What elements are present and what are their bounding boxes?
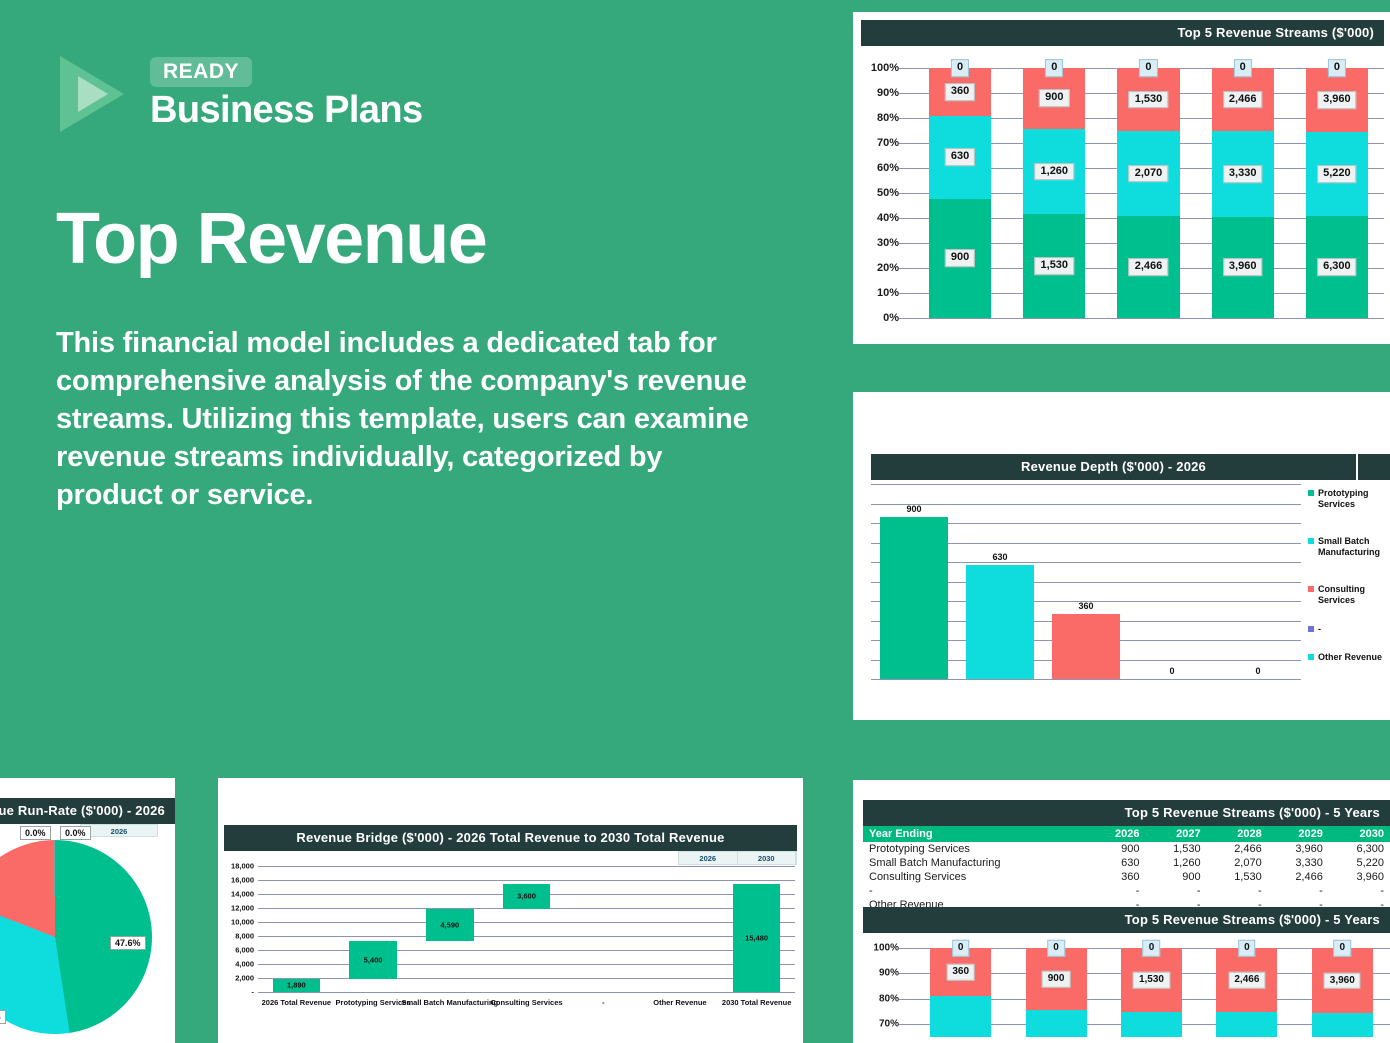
x-axis-category-label: - — [602, 998, 605, 1007]
y-axis-tick-label: 4,000 — [235, 960, 254, 969]
legend-item[interactable]: - — [1308, 624, 1321, 635]
legend-label: Consulting Services — [1318, 584, 1386, 606]
data-label: 0 — [1047, 940, 1065, 957]
play-triangle-icon — [56, 54, 134, 134]
data-label: 360 — [946, 964, 975, 981]
chart-title-run-rate: Revenue Run-Rate ($'000) - 2026 — [0, 798, 175, 824]
y-axis-tick-label: 40% — [877, 212, 899, 224]
data-label: 900 — [945, 250, 975, 268]
stacked-bar[interactable]: 3,9600 — [1312, 948, 1373, 1037]
data-label: 1,530 — [1129, 91, 1169, 109]
table-cell: 5,220 — [1329, 856, 1390, 870]
page-title: Top Revenue — [56, 203, 486, 275]
stacked-bar[interactable]: 2,4660 — [1216, 948, 1277, 1037]
table-cell: 900 — [1145, 870, 1206, 884]
y-axis-tick-label: 100% — [871, 62, 899, 74]
y-axis-tick-label: 16,000 — [231, 876, 254, 885]
chart-title-revenue-depth: Revenue Depth ($'000) - 2026 — [871, 454, 1356, 480]
bar[interactable] — [880, 517, 947, 680]
legend-cell[interactable]: 2030 — [738, 852, 797, 864]
data-label: 3,330 — [1223, 165, 1263, 183]
data-label: 2,466 — [1223, 91, 1263, 109]
x-axis-category-label: Other Revenue — [653, 998, 706, 1007]
y-axis-tick-label: 80% — [879, 993, 899, 1004]
table-cell: 360 — [1084, 870, 1145, 884]
table-cell: 2,466 — [1268, 870, 1329, 884]
data-label: 900 — [1042, 971, 1071, 988]
bar-value-label: 1,890 — [287, 981, 306, 990]
chart-title-revenue-bridge: Revenue Bridge ($'000) - 2026 Total Reve… — [224, 825, 797, 851]
stacked-bar[interactable]: 3600 — [930, 948, 991, 1037]
chart-legend-revenue-bridge: 20262030 — [678, 851, 797, 865]
data-label: 1,530 — [1133, 972, 1170, 989]
chart-plot-top5-5years: 70%80%90%100%360090001,53002,46603,9600 — [863, 936, 1390, 1043]
y-axis-tick-label: 90% — [879, 968, 899, 979]
card-revenue-depth: Revenue Depth ($'000) - 2026 90063036000… — [853, 392, 1390, 720]
gridline — [258, 936, 795, 937]
table-cell: 2,070 — [1207, 856, 1268, 870]
data-label: 2,070 — [1129, 165, 1169, 183]
x-axis-category-label: Small Batch Manufacturing — [401, 998, 498, 1007]
chart-plot-revenue-bridge: -2,0004,0006,0008,00010,00012,00014,0001… — [258, 866, 795, 992]
y-axis-tick-label: 18,000 — [231, 862, 254, 871]
table-row-label: Year Ending — [863, 826, 1084, 842]
gridline — [871, 504, 1301, 505]
stacked-bar-segment — [1026, 1010, 1087, 1037]
y-axis-tick-label: 90% — [877, 87, 899, 99]
table-cell: 1,530 — [1207, 870, 1268, 884]
legend-swatch-icon — [1308, 586, 1314, 592]
data-label: 3,960 — [1223, 258, 1263, 276]
legend-item[interactable]: Small Batch Manufacturing — [1308, 536, 1386, 558]
y-axis-tick-label: 12,000 — [231, 904, 254, 913]
table-row: ------ — [863, 884, 1390, 898]
waterfall-bar[interactable]: 5,400 — [349, 941, 397, 979]
gridline — [258, 978, 795, 979]
card-top5-table-and-chart: Top 5 Revenue Streams ($'000) - 5 Years … — [853, 780, 1390, 1043]
legend-label: Other Revenue — [1318, 652, 1382, 663]
legend-cell[interactable]: 2026 — [679, 852, 738, 864]
stacked-bar-segment — [1121, 1012, 1182, 1037]
gridline — [258, 992, 795, 993]
stacked-bar-segment — [1312, 1013, 1373, 1037]
pie-slice-label: 0.0% — [20, 826, 51, 840]
data-label: 0 — [1139, 59, 1157, 77]
stacked-bar[interactable]: 2,4662,0701,5300 — [1117, 68, 1179, 318]
waterfall-bar[interactable]: 15,480 — [733, 884, 781, 992]
stacked-bar[interactable]: 3,9603,3302,4660 — [1212, 68, 1274, 318]
y-axis-tick-label: 70% — [877, 137, 899, 149]
data-label: 0 — [1045, 59, 1063, 77]
table-cell: - — [1329, 884, 1390, 898]
table-cell: 2,466 — [1207, 842, 1268, 856]
waterfall-bar[interactable]: 3,600 — [503, 884, 551, 909]
y-axis-tick-label: 80% — [877, 112, 899, 124]
chart-legend-revenue-depth: Prototyping ServicesSmall Batch Manufact… — [1308, 488, 1386, 688]
hero-panel: READY Business Plans Top Revenue This fi… — [0, 0, 820, 780]
data-label: 0 — [951, 59, 969, 77]
gridline — [258, 922, 795, 923]
waterfall-bar[interactable]: 4,590 — [426, 909, 474, 941]
card-revenue-run-rate: Revenue Run-Rate ($'000) - 2026 2026 47.… — [0, 778, 175, 1043]
legend-label: - — [1318, 624, 1321, 635]
chart-plot-top5-main: 0%10%20%30%40%50%60%70%80%90%100%9006303… — [861, 56, 1384, 332]
bar-value-label: 0 — [1169, 666, 1174, 676]
card-top5-stacked-main: Top 5 Revenue Streams ($'000) 0%10%20%30… — [853, 12, 1390, 344]
y-axis-tick-label: 6,000 — [235, 946, 254, 955]
data-label: 0 — [952, 940, 970, 957]
chart-title-top5-main: Top 5 Revenue Streams ($'000) — [861, 20, 1384, 46]
pie-slice-label: 33.3% — [0, 1010, 6, 1024]
stacked-bar[interactable]: 6,3005,2203,9600 — [1306, 68, 1368, 318]
table-row: Small Batch Manufacturing6301,2602,0703,… — [863, 856, 1390, 870]
table-cell: 2028 — [1207, 826, 1268, 842]
y-axis-tick-label: 50% — [877, 187, 899, 199]
gridline — [871, 484, 1301, 485]
bar-value-label: 5,400 — [364, 955, 383, 964]
brand-logo: READY Business Plans — [56, 54, 423, 134]
table-cell: - — [1084, 884, 1145, 898]
y-axis-tick-label: 10% — [877, 287, 899, 299]
gridline — [258, 964, 795, 965]
bar-value-label: 630 — [992, 552, 1007, 562]
table-row-label: - — [863, 884, 1084, 898]
y-axis-tick-label: - — [252, 988, 255, 997]
table-cell: 900 — [1084, 842, 1145, 856]
waterfall-bar[interactable]: 1,890 — [273, 979, 321, 992]
data-label: 0 — [1334, 940, 1352, 957]
brand-name: Business Plans — [150, 91, 423, 131]
stacked-bar[interactable]: 9006303600 — [929, 68, 991, 318]
table-row-label: Prototyping Services — [863, 842, 1084, 856]
data-label: 3,960 — [1324, 972, 1361, 989]
data-label: 6,300 — [1317, 258, 1357, 276]
chart-plot-revenue-depth: 90063036000 — [871, 484, 1301, 679]
bar-value-label: 900 — [906, 504, 921, 514]
table-cell: 2030 — [1329, 826, 1390, 842]
card-revenue-bridge: Revenue Bridge ($'000) - 2026 Total Reve… — [218, 778, 803, 1043]
legend-swatch-icon — [1308, 490, 1314, 496]
bar-value-label: 15,480 — [745, 933, 768, 942]
y-axis-tick-label: 30% — [877, 237, 899, 249]
data-label: 2,466 — [1228, 972, 1265, 989]
data-label: 2,466 — [1129, 258, 1169, 276]
data-label: 0 — [1238, 940, 1256, 957]
pie-slice-label: 0.0% — [60, 826, 91, 840]
table-cell: - — [1207, 884, 1268, 898]
gridline — [899, 318, 1384, 319]
data-label: 3,960 — [1317, 91, 1357, 109]
table-cell: 1,530 — [1145, 842, 1206, 856]
table-row: Consulting Services3609001,5302,4663,960 — [863, 870, 1390, 884]
pie-slice-label: 47.6% — [110, 936, 146, 950]
legend-item[interactable]: Consulting Services — [1308, 584, 1386, 606]
ready-badge: READY — [150, 57, 252, 87]
legend-swatch-icon — [1308, 626, 1314, 632]
y-axis-tick-label: 0% — [883, 312, 899, 324]
data-label: 1,260 — [1035, 163, 1075, 181]
table-header-row: Year Ending20262027202820292030 — [863, 826, 1390, 842]
data-label: 0 — [1234, 59, 1252, 77]
legend-swatch-icon — [1308, 538, 1314, 544]
table-cell: 6,300 — [1329, 842, 1390, 856]
table-row-label: Small Batch Manufacturing — [863, 856, 1084, 870]
stacked-bar-segment — [930, 996, 991, 1037]
y-axis-tick-label: 8,000 — [235, 932, 254, 941]
y-axis-tick-label: 14,000 — [231, 890, 254, 899]
gridline — [871, 679, 1301, 680]
legend-swatch-icon — [1308, 654, 1314, 660]
y-axis-tick-label: 100% — [873, 943, 899, 954]
table-cell: 1,260 — [1145, 856, 1206, 870]
legend-label: Prototyping Services — [1318, 488, 1386, 510]
bar-value-label: 0 — [1255, 666, 1260, 676]
bar-value-label: 4,590 — [440, 920, 459, 929]
y-axis-tick-label: 20% — [877, 262, 899, 274]
data-label: 360 — [945, 83, 975, 101]
stacked-bar[interactable]: 1,5301,2609000 — [1023, 68, 1085, 318]
legend-label: Small Batch Manufacturing — [1318, 536, 1386, 558]
table-cell: - — [1268, 884, 1329, 898]
x-axis-category-label: Consulting Services — [490, 998, 562, 1007]
table-row: Prototyping Services9001,5302,4663,9606,… — [863, 842, 1390, 856]
bar[interactable] — [1052, 614, 1119, 679]
stacked-bar[interactable]: 9000 — [1026, 948, 1087, 1037]
chart-title-top5-5years: Top 5 Revenue Streams ($'000) - 5 Years — [863, 907, 1390, 933]
x-axis-category-label: 2026 Total Revenue — [262, 998, 331, 1007]
y-axis-tick-label: 2,000 — [235, 974, 254, 983]
gridline — [258, 880, 795, 881]
gridline — [258, 866, 795, 867]
data-label: 0 — [1328, 59, 1346, 77]
table-cell: 2029 — [1268, 826, 1329, 842]
title-bar-tail — [1358, 454, 1390, 480]
y-axis-tick-label: 70% — [879, 1019, 899, 1030]
data-label: 1,530 — [1035, 257, 1075, 275]
table-row-label: Consulting Services — [863, 870, 1084, 884]
run-rate-year-tag: 2026 — [80, 824, 158, 837]
stacked-bar-segment — [1216, 1012, 1277, 1037]
bar[interactable] — [966, 565, 1033, 679]
bar-value-label: 3,600 — [517, 892, 536, 901]
data-label: 900 — [1039, 90, 1069, 108]
table-cell: 3,960 — [1329, 870, 1390, 884]
table-cell: 2026 — [1084, 826, 1145, 842]
data-label: 630 — [945, 148, 975, 166]
legend-item[interactable]: Other Revenue — [1308, 652, 1382, 663]
table-cell: - — [1145, 884, 1206, 898]
table-cell: 3,960 — [1268, 842, 1329, 856]
gridline — [258, 950, 795, 951]
table-cell: 3,330 — [1268, 856, 1329, 870]
table-cell: 2027 — [1145, 826, 1206, 842]
page-description: This financial model includes a dedicate… — [56, 325, 756, 515]
x-axis-category-label: 2030 Total Revenue — [722, 998, 791, 1007]
y-axis-tick-label: 60% — [877, 162, 899, 174]
table-cell: 630 — [1084, 856, 1145, 870]
data-label: 5,220 — [1317, 165, 1357, 183]
bar-value-label: 360 — [1078, 601, 1093, 611]
legend-item[interactable]: Prototyping Services — [1308, 488, 1386, 510]
chart-title-top5-table: Top 5 Revenue Streams ($'000) - 5 Years — [863, 800, 1390, 826]
y-axis-tick-label: 10,000 — [231, 918, 254, 927]
x-axis-category-label: Prototyping Services — [336, 998, 411, 1007]
chart-plot-run-rate: 47.6%33.3%19.0%0.0%0.0% — [0, 840, 175, 1040]
data-label: 0 — [1143, 940, 1161, 957]
stacked-bar[interactable]: 1,5300 — [1121, 948, 1182, 1037]
